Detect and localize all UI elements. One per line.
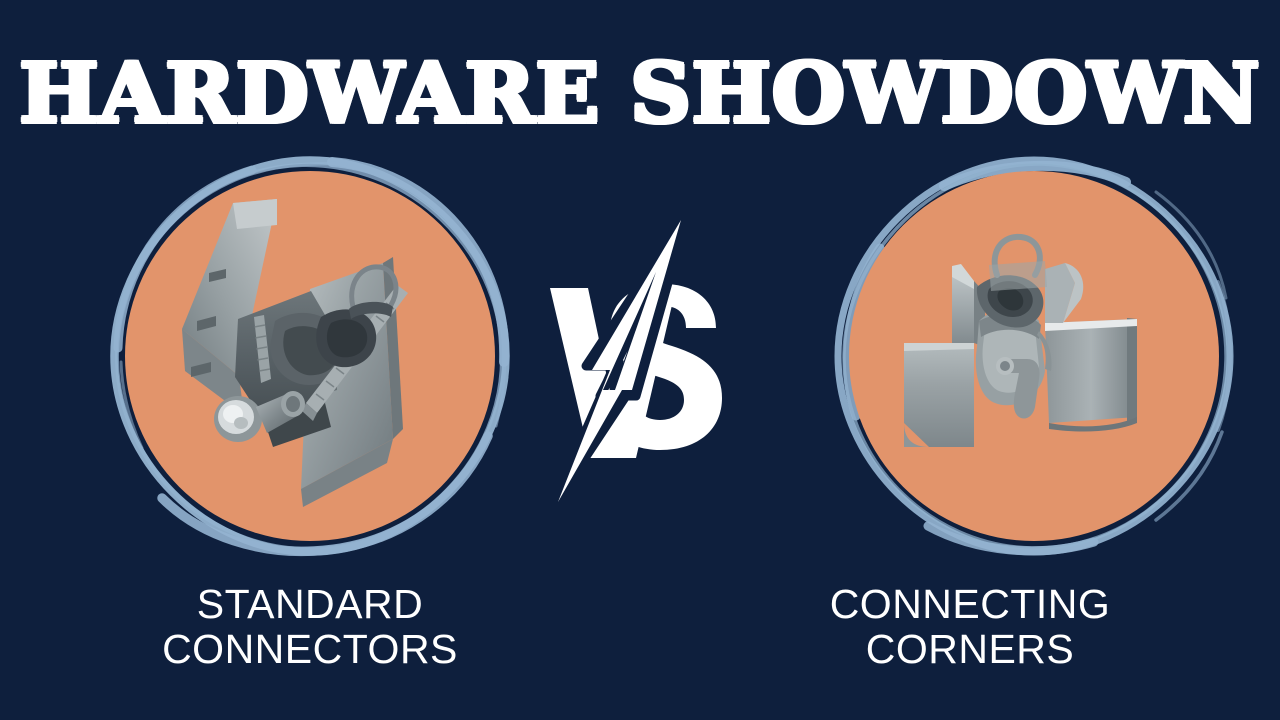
versus-badge: VS xyxy=(540,210,740,510)
circle-badge-right xyxy=(826,148,1242,564)
versus-graphic: VS xyxy=(540,210,740,510)
comparison-item-connecting-corners: CONNECTING CORNERS xyxy=(660,0,1280,720)
caption-line-2: CORNERS xyxy=(660,627,1280,672)
caption-line-2: CONNECTORS xyxy=(0,627,620,672)
hardware-showdown-graphic: HARDWARE SHOWDOWN xyxy=(0,0,1280,720)
caption-connecting-corners: CONNECTING CORNERS xyxy=(660,582,1280,672)
product-image-connecting-corners xyxy=(849,171,1219,541)
circle-badge-left xyxy=(102,148,518,564)
circle-fill-right xyxy=(849,171,1219,541)
caption-standard-connectors: STANDARD CONNECTORS xyxy=(0,582,620,672)
comparison-item-standard-connectors: STANDARD CONNECTORS xyxy=(0,0,620,720)
product-image-standard-connectors xyxy=(125,171,495,541)
caption-line-1: STANDARD xyxy=(0,582,620,627)
caption-line-1: CONNECTING xyxy=(660,582,1280,627)
circle-fill-left xyxy=(125,171,495,541)
